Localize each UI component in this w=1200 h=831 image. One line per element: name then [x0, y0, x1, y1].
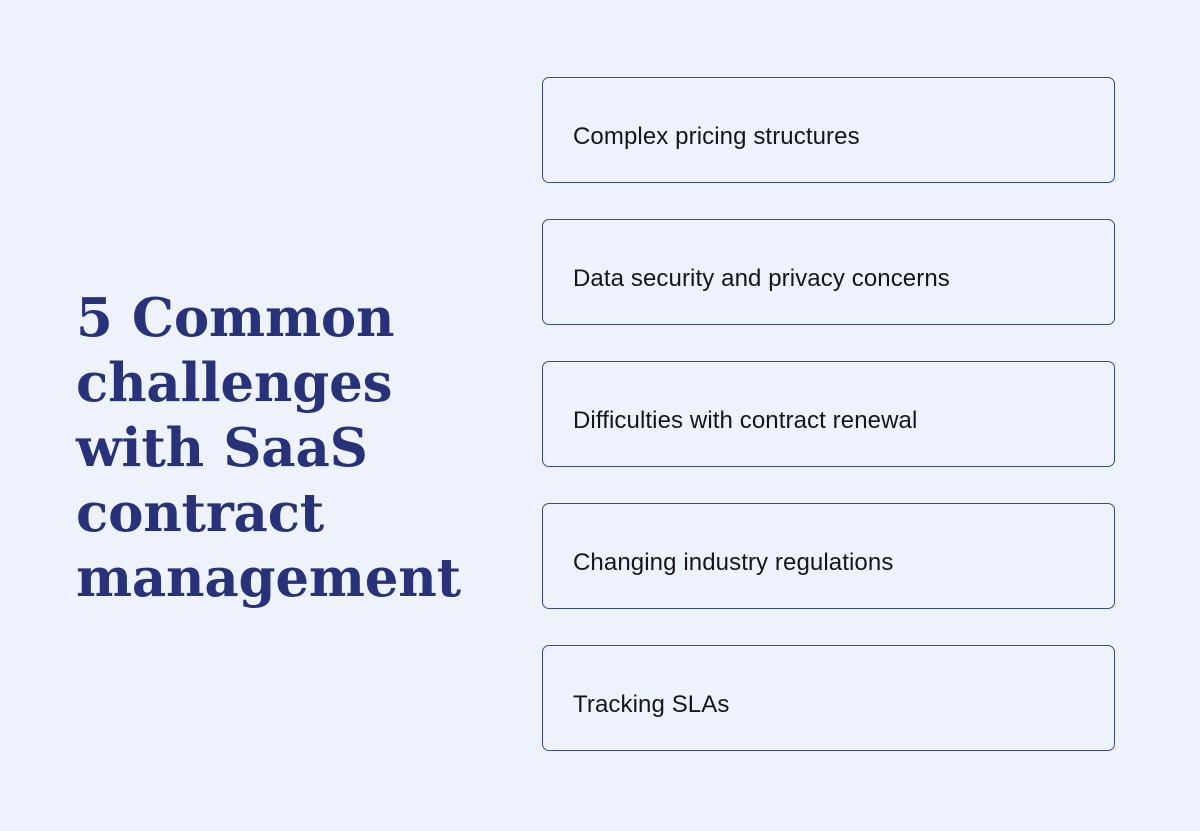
heading-column: 5 Common challenges with SaaS contract m… [76, 286, 506, 611]
page-title: 5 Common challenges with SaaS contract m… [76, 286, 506, 611]
challenge-card-4-label: Changing industry regulations [573, 548, 893, 578]
challenge-card-1-label: Complex pricing structures [573, 122, 860, 152]
infographic-page: 5 Common challenges with SaaS contract m… [0, 0, 1200, 831]
challenge-card-2: Data security and privacy concerns [542, 219, 1115, 325]
challenge-card-1: Complex pricing structures [542, 77, 1115, 183]
challenge-card-4: Changing industry regulations [542, 503, 1115, 609]
challenge-card-5-label: Tracking SLAs [573, 690, 729, 720]
challenge-card-2-label: Data security and privacy concerns [573, 264, 950, 294]
challenge-card-3: Difficulties with contract renewal [542, 361, 1115, 467]
challenge-card-list: Complex pricing structures Data security… [542, 77, 1115, 751]
challenge-card-5: Tracking SLAs [542, 645, 1115, 751]
challenge-card-3-label: Difficulties with contract renewal [573, 406, 917, 436]
